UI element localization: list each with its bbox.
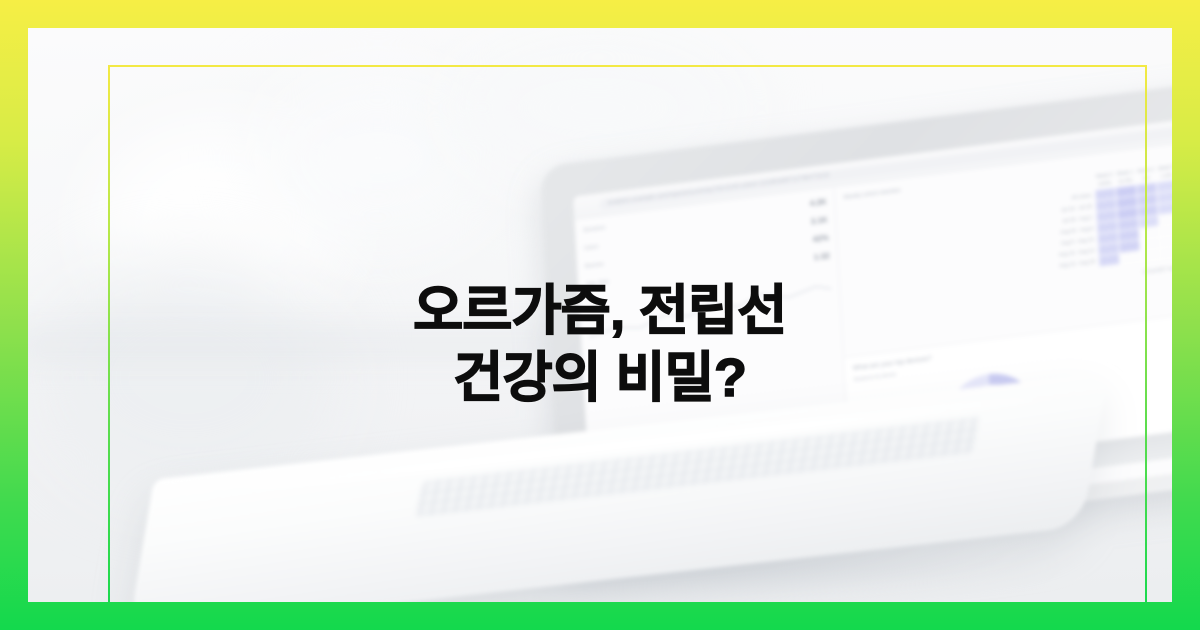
thumbnail-card: analytics.example.com/reports/summary?id…: [0, 0, 1200, 630]
kpi-value: 42%: [813, 233, 829, 244]
cohort-report-link-label: COHORT ANALYSIS REPORT: [1143, 260, 1172, 275]
kpi-value: 3.1K: [811, 215, 828, 226]
kpi-value: 1:32: [814, 251, 830, 262]
cohort-cell: [1098, 253, 1119, 267]
cohort-cell: [1119, 251, 1140, 265]
cohort-cell: [1140, 248, 1161, 262]
kpi-label: Sessions: [583, 225, 606, 237]
kpi-label: Users: [584, 244, 599, 255]
page-title-line-2: 건강의 비밀?: [0, 345, 1200, 412]
page-title: 오르가즘, 전립선 건강의 비밀?: [0, 278, 1200, 412]
page-title-line-1: 오르가즘, 전립선: [0, 278, 1200, 345]
kpi-value: 4.2K: [810, 197, 827, 208]
kpi-label: Bounce: [585, 261, 604, 272]
cohort-cell: [1160, 245, 1172, 259]
